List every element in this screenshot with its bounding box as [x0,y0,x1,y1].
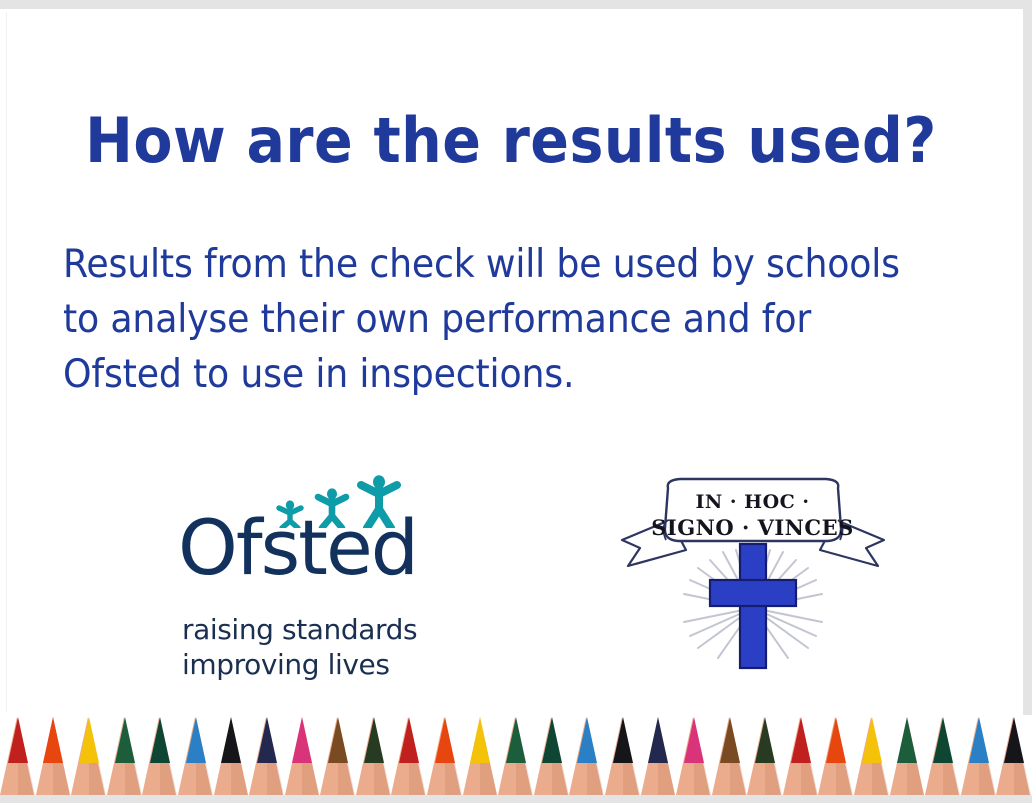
ofsted-logo: Ofsted raising standards improving lives [178,472,430,682]
pencil-tip [0,717,36,795]
pencil-lead [292,717,312,763]
pencil-tip [961,717,997,795]
pencil-lead [720,717,740,763]
pencil-lead [328,717,348,763]
pencil-lead [470,717,490,763]
pencil-lead [435,717,455,763]
pencil-lead [933,717,953,763]
pencil-tip [569,717,605,795]
pencil-lead [257,717,277,763]
pencil-lead [862,717,882,763]
pencil-tip [747,717,783,795]
ofsted-tagline-line-1: raising standards [182,612,434,647]
ofsted-tagline-line-2: improving lives [182,647,434,682]
school-crest: IN · HOC · SIGNO · VINCES [610,468,895,688]
pencil-tip [605,717,641,795]
pencil-tip [320,717,356,795]
pencil-lead [969,717,989,763]
window-edge-right [1023,9,1032,795]
pencil-lead [8,717,28,763]
pencil-lead [186,717,206,763]
pencil-lead [79,717,99,763]
pencil-lead [542,717,562,763]
pencil-tip [142,717,178,795]
pencil-lead [577,717,597,763]
pencil-tip [391,717,427,795]
pencil-tip [178,717,214,795]
slide-canvas: How are the results used? Results from t… [0,0,1032,803]
pencil-tip [712,717,748,795]
pencil-tip [783,717,819,795]
pencil-lead [613,717,633,763]
pencil-lead [648,717,668,763]
pencil-tip [285,717,321,795]
pencil-tip [249,717,285,795]
pencil-lead [791,717,811,763]
pencil-tip [427,717,463,795]
pencil-lead [43,717,63,763]
pencil-tip [996,717,1032,795]
ofsted-tagline: raising standards improving lives [182,612,434,682]
pencil-tip [890,717,926,795]
pencil-lead [364,717,384,763]
window-edge-bottom [0,795,1032,803]
pencil-lead [399,717,419,763]
pencil-tip [214,717,250,795]
pencil-tip [534,717,570,795]
pencil-lead [1004,717,1024,763]
pencil-lead [826,717,846,763]
pencil-border-decoration [0,715,1032,795]
pencil-lead [755,717,775,763]
pencil-lead [115,717,135,763]
pencil-lead [150,717,170,763]
crest-motto-line-2: SIGNO · VINCES [610,515,895,540]
pencil-tip [676,717,712,795]
crest-motto: IN · HOC · SIGNO · VINCES [610,490,895,540]
pencil-tip [107,717,143,795]
pencil-tip [463,717,499,795]
logo-row: Ofsted raising standards improving lives [0,462,1022,692]
pencil-tip [71,717,107,795]
pencil-lead [506,717,526,763]
pencil-tip [36,717,72,795]
slide-body-text: Results from the check will be used by s… [63,237,919,402]
slide-title: How are the results used? [41,108,981,173]
pencil-tip [818,717,854,795]
pencil-lead [897,717,917,763]
pencil-lead [221,717,241,763]
window-edge-top [0,0,1032,9]
pencil-tip [356,717,392,795]
pencil-tip [641,717,677,795]
pencil-tip [498,717,534,795]
pencil-tip [925,717,961,795]
pencil-tip [854,717,890,795]
pencil-lead [684,717,704,763]
ofsted-wordmark: Ofsted [178,510,430,586]
crest-motto-line-1: IN · HOC · [610,490,895,515]
